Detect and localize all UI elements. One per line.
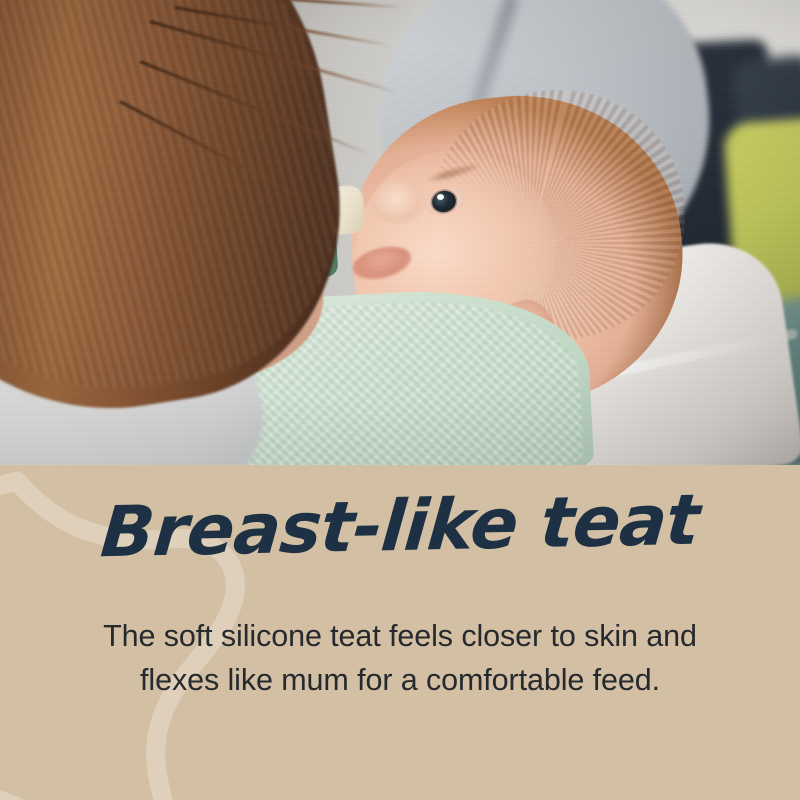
caption-panel: Breast-like teat The soft silicone teat … [0,465,800,800]
lifestyle-photo [0,0,800,465]
page-title: Breast-like teat [0,483,800,570]
feature-description: The soft silicone teat feels closer to s… [78,615,722,703]
baby-eye-highlight [437,194,444,200]
product-feature-card: Breast-like teat The soft silicone teat … [0,0,800,800]
